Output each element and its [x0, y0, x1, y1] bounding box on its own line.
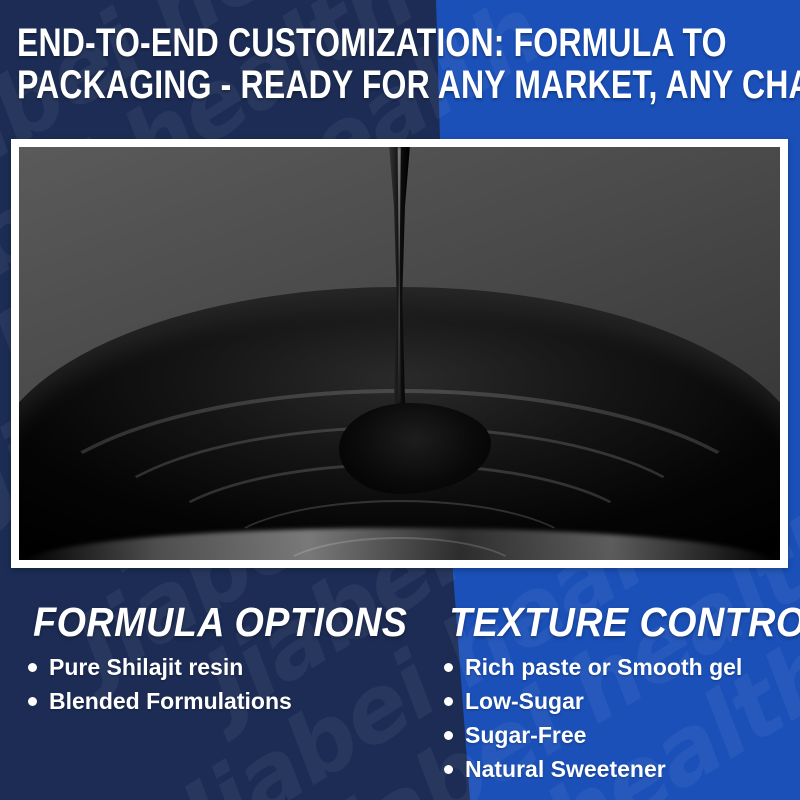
list-item-label: Low-Sugar — [465, 688, 584, 714]
list-item-label: Sugar-Free — [465, 722, 586, 748]
bullet-list-texture-control: Rich paste or Smooth gel Low-Sugar Sugar… — [418, 650, 800, 786]
bullet-dot-icon — [28, 697, 37, 706]
column-formula-options: FORMULA OPTIONS Pure Shilajit resin Blen… — [0, 600, 410, 718]
list-item-label: Natural Sweetener — [465, 756, 666, 782]
bullet-dot-icon — [444, 663, 453, 672]
list-item: Natural Sweetener — [418, 752, 800, 786]
bullet-dot-icon — [444, 765, 453, 774]
list-item-label: Pure Shilajit resin — [49, 654, 243, 680]
bullet-dot-icon — [444, 731, 453, 740]
page-title: END-TO-END CUSTOMIZATION: FORMULA TO PAC… — [17, 22, 633, 106]
column-heading: TEXTURE CONTROL — [418, 600, 769, 644]
poster-canvas: Jiabei health Jiabei health Jiabei healt… — [0, 0, 800, 800]
list-item-label: Rich paste or Smooth gel — [465, 654, 742, 680]
bullet-dot-icon — [444, 697, 453, 706]
list-item: Low-Sugar — [418, 684, 800, 718]
list-item-label: Blended Formulations — [49, 688, 292, 714]
page-title-line-2: PACKAGING - READY FOR ANY MARKET, ANY CH… — [17, 64, 633, 106]
product-photo-frame — [11, 139, 788, 568]
list-item: Pure Shilajit resin — [0, 650, 410, 684]
list-item: Blended Formulations — [0, 684, 410, 718]
page-title-line-1: END-TO-END CUSTOMIZATION: FORMULA TO — [17, 22, 633, 64]
product-photo — [19, 147, 780, 560]
list-item: Sugar-Free — [418, 718, 800, 752]
bullet-dot-icon — [28, 663, 37, 672]
list-item: Rich paste or Smooth gel — [418, 650, 800, 684]
column-texture-control: TEXTURE CONTROL Rich paste or Smooth gel… — [418, 600, 800, 786]
column-heading: FORMULA OPTIONS — [0, 600, 377, 644]
bullet-list-formula-options: Pure Shilajit resin Blended Formulations — [0, 650, 410, 718]
